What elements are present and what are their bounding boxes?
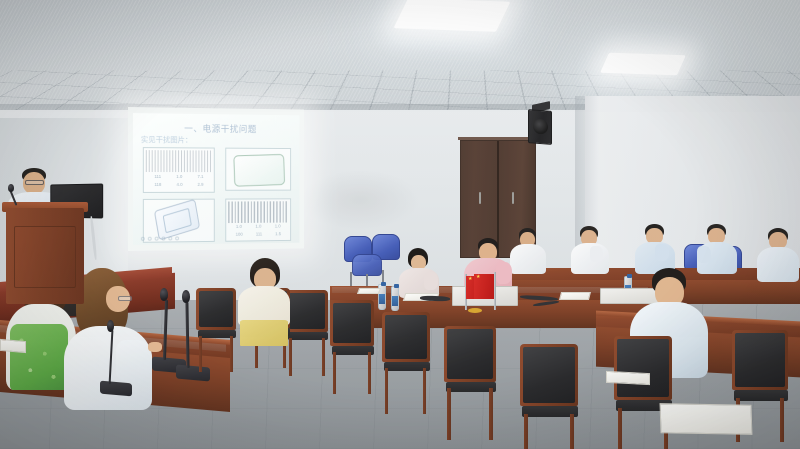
attendee-back-light-blue-1	[634, 224, 676, 274]
spectrum-value: 1.5	[275, 231, 281, 237]
slide-panel-spectrum-top-left: 111 1.0 7.1 118 4.0 2.9	[143, 147, 215, 193]
handout-paper	[606, 371, 650, 385]
spectrum-value: 1.0	[255, 224, 261, 230]
slide-title: 一、电源干扰问题	[184, 122, 293, 136]
slide-bullet-dots-icon	[141, 236, 179, 240]
spectrum-readout-row: 1.0 1.0 1.0	[229, 223, 287, 229]
wall-stain	[300, 170, 420, 230]
door-handle-left-icon[interactable]	[479, 192, 481, 204]
slide-panel-spectrum-bottom-right: 1.0 1.0 1.0 100 111 1.5	[225, 198, 291, 241]
skirt	[240, 320, 288, 346]
podium-microphone-head-icon	[8, 184, 14, 192]
flag-pole	[494, 272, 496, 310]
spectrum-value: 1.0	[275, 224, 281, 230]
slide-subtitle: 实见干扰图片：	[141, 134, 235, 146]
spectrum-value: 100	[236, 232, 243, 238]
spectrum-value: 1.0	[236, 224, 242, 230]
microphone-base	[176, 365, 210, 382]
door-handle-right-icon[interactable]	[512, 192, 514, 204]
eyeglasses-icon	[118, 296, 132, 301]
microphone-head-icon	[107, 320, 114, 332]
attendee-back-white-shirt-1	[508, 228, 548, 274]
conference-room-photo: 一、电源干扰问题 实见干扰图片： 111 1.0 7.1 118 4.0 2.9	[0, 0, 800, 449]
handout-paper	[559, 292, 591, 300]
spectrum-trace-icon	[146, 150, 212, 172]
presentation-slide: 一、电源干扰问题 实见干扰图片： 111 1.0 7.1 118 4.0 2.9	[133, 113, 299, 245]
microphone-head-icon	[182, 290, 190, 303]
water-bottle	[391, 286, 399, 311]
ceiling-led-panel-left	[394, 0, 511, 32]
spectrum-trace-icon	[228, 201, 288, 223]
handout-paper	[0, 339, 26, 353]
handout-paper	[660, 403, 753, 435]
attendee-mid-floral-blouse	[398, 248, 440, 298]
attendee-back-light-blue-2	[696, 224, 738, 274]
spectrum-value: 1.0	[176, 174, 182, 180]
wooden-chair	[520, 344, 578, 430]
blue-folding-chair-stack-center	[352, 254, 382, 276]
spectrum-value: 7.1	[197, 174, 203, 180]
wooden-chair	[444, 326, 496, 402]
slide-panel-device-top-right	[225, 148, 291, 191]
presenter-eyeglasses-icon	[25, 180, 44, 185]
chinese-flag-right	[474, 274, 494, 299]
wooden-chair	[286, 290, 328, 348]
spectrum-value: 2.9	[197, 182, 203, 188]
microphone-base	[100, 381, 132, 397]
spectrum-value: 111	[256, 232, 262, 238]
spectrum-readout-row: 100 111 1.5	[229, 231, 287, 238]
microphone-head-icon	[160, 288, 168, 301]
attendee-mid-cream-top	[238, 258, 290, 346]
wooden-chair	[382, 312, 430, 380]
green-floral-pattern	[10, 324, 68, 390]
projection-screen: 一、电源干扰问题 实见干扰图片： 111 1.0 7.1 118 4.0 2.9	[128, 107, 304, 251]
attendee-back-white-shirt-2	[570, 226, 610, 274]
attendee-back-light-blue-3	[756, 228, 800, 282]
spectrum-readout-row: 111 1.0 7.1	[147, 174, 211, 180]
tablet-device-icon	[233, 154, 285, 187]
handout-paper	[357, 288, 381, 294]
spectrum-value: 4.0	[176, 182, 182, 188]
handheld-device-icon	[154, 199, 200, 241]
lectern-front-panel	[14, 226, 76, 288]
wooden-chair	[330, 300, 374, 362]
wooden-chair	[196, 288, 236, 346]
flag-stand-base	[468, 308, 482, 313]
wall-speaker	[528, 109, 552, 145]
spectrum-readout-row: 118 4.0 2.9	[147, 182, 211, 188]
wooden-chair	[732, 330, 788, 414]
spectrum-value: 118	[154, 182, 161, 188]
ceiling-led-panel-right	[600, 53, 686, 76]
spectrum-value: 111	[154, 174, 161, 180]
hand	[148, 342, 162, 352]
